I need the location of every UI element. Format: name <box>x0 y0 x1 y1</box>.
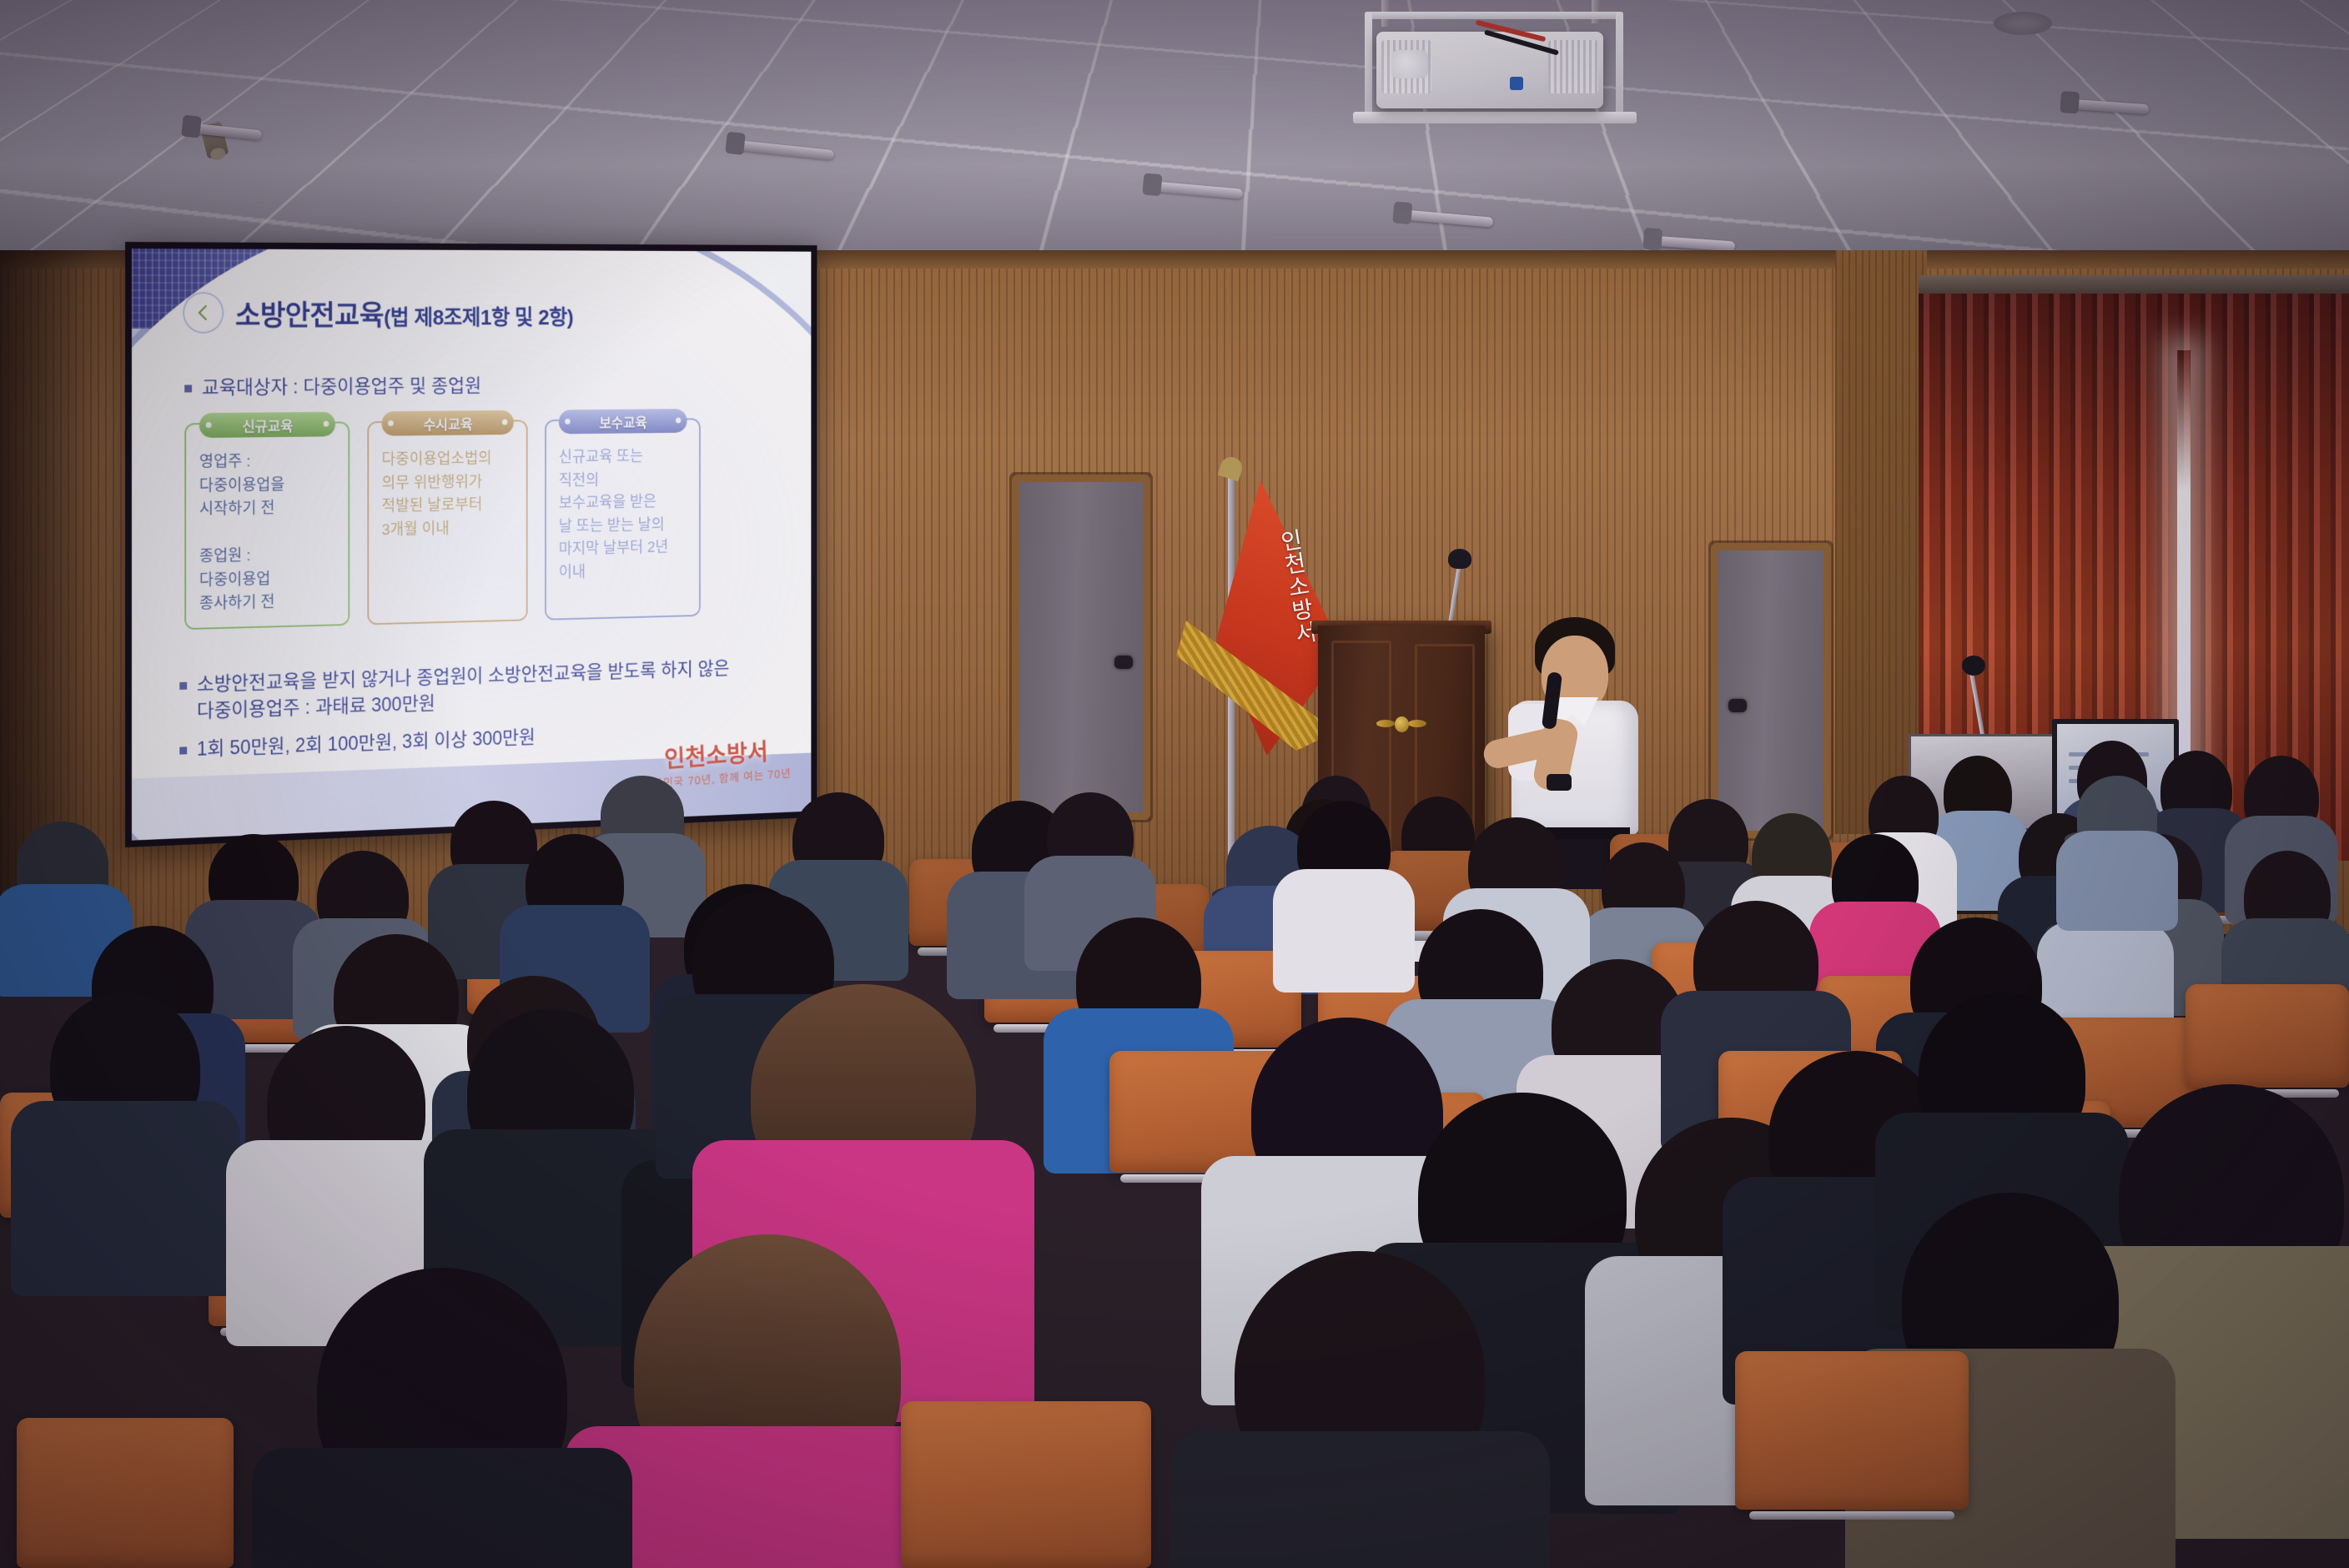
attendee <box>792 792 884 886</box>
attendee <box>1235 1251 1485 1501</box>
side-door[interactable] <box>1019 482 1143 812</box>
bullet-square-icon <box>179 682 187 690</box>
door-handle-icon[interactable] <box>1728 699 1747 712</box>
box-caption: 신규교육 <box>199 412 335 438</box>
attendee <box>1251 1018 1443 1209</box>
attendee <box>1919 993 2085 1159</box>
attendee <box>2160 751 2232 831</box>
microphone-icon <box>1448 549 1471 569</box>
projection-screen: 소방안전교육(법 제8조제1항 및 2항) 교육대상자 : 다중이용업주 및 종… <box>125 242 817 847</box>
attendee <box>1468 817 1565 916</box>
ceiling-vent-icon <box>1994 12 2052 35</box>
attendee-torso <box>2056 831 2178 931</box>
attendee <box>317 1268 567 1518</box>
slide-box-occasional-education: 수시교육 다중이용업소법의 의무 위반행위가 적발된 날로부터 3개월 이내 <box>367 420 527 625</box>
attendee <box>1602 842 1685 932</box>
attendee <box>209 834 299 926</box>
attendee-torso <box>11 1101 239 1296</box>
fire-service-emblem-icon <box>1376 713 1426 740</box>
attendee <box>2244 851 2331 944</box>
attendee-torso <box>1169 1431 1550 1568</box>
presentation-slide: 소방안전교육(법 제8조제1항 및 2항) 교육대상자 : 다중이용업주 및 종… <box>132 249 811 841</box>
projector-connector <box>1510 77 1523 90</box>
projector-body <box>1376 32 1603 108</box>
auditorium-scene: 소방안전교육(법 제8조제1항 및 2항) 교육대상자 : 다중이용업주 및 종… <box>0 0 2349 1568</box>
attendee-with-cap <box>2077 776 2157 852</box>
cage-bar <box>1365 12 1372 118</box>
attendee <box>1076 917 1201 1044</box>
attendee <box>467 1009 634 1176</box>
bullet-square-icon <box>184 384 192 392</box>
attendee <box>50 993 200 1143</box>
box-caption: 보수교육 <box>559 409 687 434</box>
attendee <box>1418 909 1543 1034</box>
slide-bullet-audience: 교육대상자 : 다중이용업주 및 종업원 <box>184 374 481 402</box>
ceiling-shading <box>0 0 2349 275</box>
attendee <box>2119 1084 2344 1309</box>
projector-vent-icon <box>1548 40 1598 93</box>
slide-box-new-education: 신규교육 영업주 : 다중이용업을 시작하기 전 종업원 : 다중이용업 종사하… <box>184 421 350 630</box>
attendee <box>1944 756 2012 832</box>
chair[interactable] <box>901 1401 1151 1568</box>
attendee <box>267 1026 425 1184</box>
ceiling <box>0 0 2349 275</box>
slide-title: 소방안전교육(법 제8조제1항 및 2항) <box>235 293 573 334</box>
attendee <box>317 851 409 944</box>
microphone-icon <box>1962 656 1985 676</box>
attendee <box>1047 792 1134 881</box>
cage-bar <box>1365 12 1623 19</box>
attendee-pink-polo <box>751 984 976 1201</box>
attendee <box>1752 813 1832 900</box>
box-caption: 수시교육 <box>381 410 513 436</box>
slide-box-row: 신규교육 영업주 : 다중이용업을 시작하기 전 종업원 : 다중이용업 종사하… <box>184 418 701 630</box>
flag-label: 인천소방서 <box>1205 526 1322 657</box>
side-door[interactable] <box>1718 550 1823 831</box>
attendee-with-cap <box>17 822 108 908</box>
attendee <box>2244 756 2319 839</box>
attendee-pink-shirt <box>1832 834 1919 927</box>
attendee <box>1297 801 1391 896</box>
slide-box-refresher-education: 보수교육 신규교육 또는 직전의 보수교육을 받은 날 또는 받는 날의 마지막… <box>545 418 701 620</box>
cage-bar <box>1616 12 1623 118</box>
wristwatch-icon <box>1547 774 1572 791</box>
attendee <box>450 801 537 889</box>
door-handle-icon[interactable] <box>1114 656 1133 669</box>
projector-lens-icon <box>1391 50 1428 78</box>
bullet-square-icon <box>179 746 187 754</box>
chair[interactable] <box>17 1418 234 1568</box>
attendee-torso <box>252 1448 632 1568</box>
chair[interactable] <box>1735 1351 1969 1510</box>
ceiling-projector <box>1345 0 1638 148</box>
attendee-pink-polo-front <box>634 1234 901 1501</box>
chair[interactable] <box>2186 984 2349 1088</box>
slide-title-row: 소방안전교육(법 제8조제1항 및 2항) <box>183 292 573 334</box>
attendee <box>1693 901 1818 1026</box>
attendee <box>526 834 624 932</box>
back-chevron-icon <box>183 292 224 334</box>
cage-bar <box>1353 112 1637 123</box>
attendee-torso <box>1273 869 1415 993</box>
